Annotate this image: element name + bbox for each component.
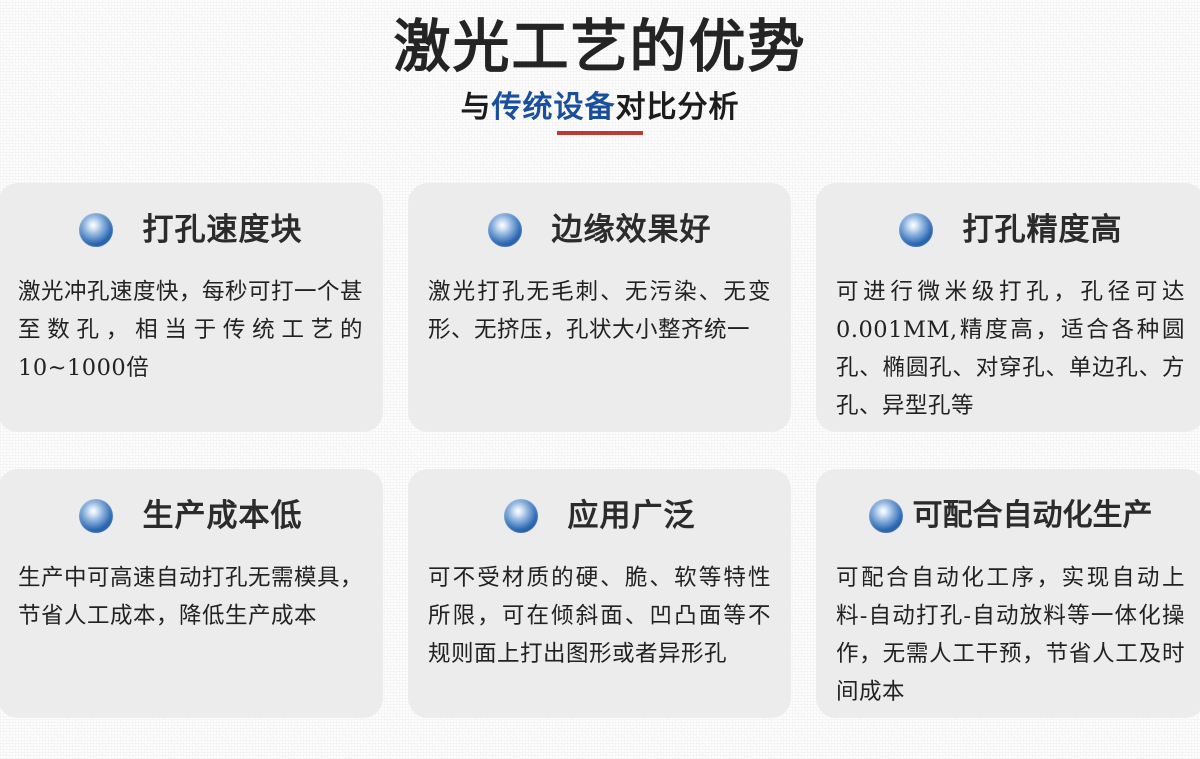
feature-card-3-body: 可进行微米级打孔，孔径可达0.001MM,精度高，适合各种圆孔、椭圆孔、对穿孔、… <box>836 273 1185 425</box>
feature-card-5-title: 应用广泛 <box>568 498 696 534</box>
feature-card-3-header: 打孔精度高 <box>836 201 1185 259</box>
feature-card-grid: 打孔速度块 激光冲孔速度快，每秒可打一个甚至数孔，相当于传统工艺的10~1000… <box>0 183 1200 718</box>
blue-sphere-bullet-icon <box>488 213 522 247</box>
feature-card-6-title: 可配合自动化生产 <box>913 498 1153 534</box>
subtitle-suffix: 对比分析 <box>616 90 740 125</box>
blue-sphere-bullet-icon <box>79 499 113 533</box>
page-header: 激光工艺的优势 与传统设备对比分析 <box>0 0 1200 170</box>
feature-card-4: 生产成本低 生产中可高速自动打孔无需模具，节省人工成本，降低生产成本 <box>0 469 383 718</box>
feature-card-4-header: 生产成本低 <box>18 487 363 545</box>
promo-page: 激光工艺的优势 与传统设备对比分析 打孔速度块 激光冲孔速度快，每秒可打一个甚至… <box>0 0 1200 759</box>
feature-card-2-body: 激光打孔无毛刺、无污染、无变形、无挤压，孔状大小整齐统一 <box>428 273 771 349</box>
feature-card-5-body: 可不受材质的硬、脆、软等特性所限，可在倾斜面、凹凸面等不规则面上打出图形或者异形… <box>428 559 771 673</box>
feature-card-2-header: 边缘效果好 <box>428 201 771 259</box>
feature-card-4-body: 生产中可高速自动打孔无需模具，节省人工成本，降低生产成本 <box>18 559 363 635</box>
subtitle-accent: 传统设备 <box>492 90 616 125</box>
title-underline-divider <box>557 131 643 135</box>
page-subtitle: 与传统设备对比分析 <box>0 89 1200 127</box>
blue-sphere-bullet-icon <box>79 213 113 247</box>
feature-card-3: 打孔精度高 可进行微米级打孔，孔径可达0.001MM,精度高，适合各种圆孔、椭圆… <box>816 183 1200 432</box>
feature-card-2-title: 边缘效果好 <box>552 212 712 248</box>
blue-sphere-bullet-icon <box>869 499 903 533</box>
feature-card-6-header: 可配合自动化生产 <box>836 487 1185 545</box>
feature-card-1-header: 打孔速度块 <box>18 201 363 259</box>
feature-card-2: 边缘效果好 激光打孔无毛刺、无污染、无变形、无挤压，孔状大小整齐统一 <box>408 183 791 432</box>
feature-card-5-header: 应用广泛 <box>428 487 771 545</box>
feature-card-6-body: 可配合自动化工序，实现自动上料-自动打孔-自动放料等一体化操作，无需人工干预，节… <box>836 559 1185 711</box>
blue-sphere-bullet-icon <box>504 499 538 533</box>
subtitle-prefix: 与 <box>461 90 492 125</box>
feature-card-1-body: 激光冲孔速度快，每秒可打一个甚至数孔，相当于传统工艺的10~1000倍 <box>18 273 363 387</box>
feature-card-1-title: 打孔速度块 <box>143 212 303 248</box>
feature-card-6: 可配合自动化生产 可配合自动化工序，实现自动上料-自动打孔-自动放料等一体化操作… <box>816 469 1200 718</box>
feature-card-3-title: 打孔精度高 <box>963 212 1123 248</box>
page-title: 激光工艺的优势 <box>0 0 1200 84</box>
feature-card-5: 应用广泛 可不受材质的硬、脆、软等特性所限，可在倾斜面、凹凸面等不规则面上打出图… <box>408 469 791 718</box>
blue-sphere-bullet-icon <box>899 213 933 247</box>
subtitle-block: 与传统设备对比分析 <box>0 89 1200 149</box>
feature-card-1: 打孔速度块 激光冲孔速度快，每秒可打一个甚至数孔，相当于传统工艺的10~1000… <box>0 183 383 432</box>
feature-card-4-title: 生产成本低 <box>143 498 303 534</box>
